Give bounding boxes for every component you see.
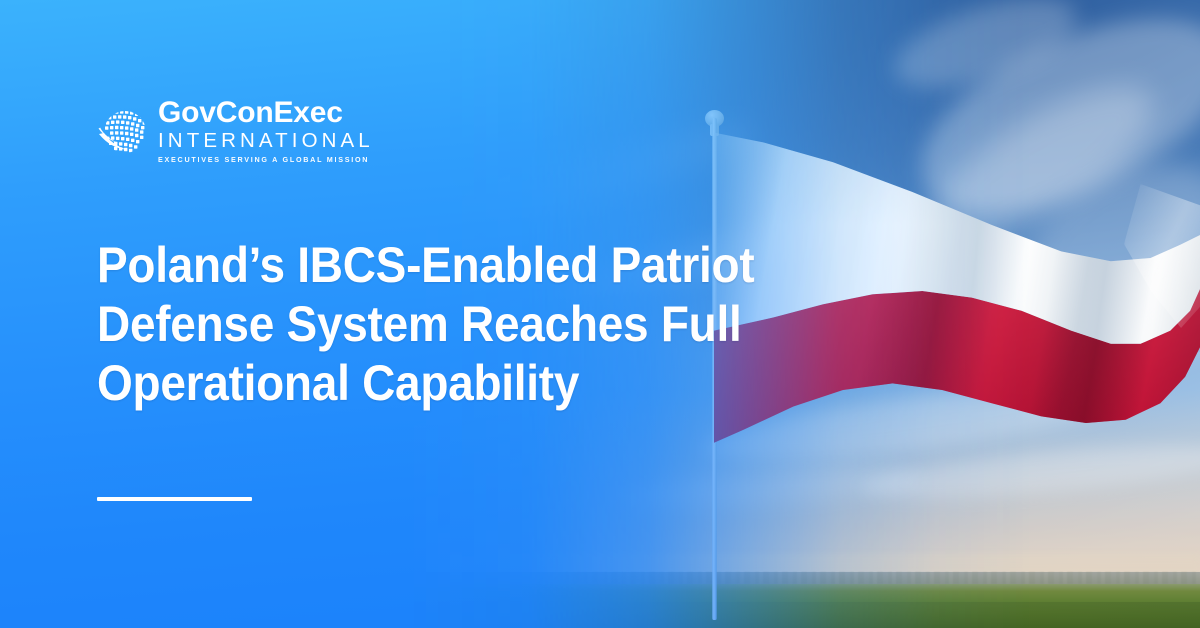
title-divider <box>97 497 252 501</box>
brand-name-secondary: INTERNATIONAL <box>158 131 374 152</box>
headline-line-1: Poland’s IBCS-Enabled Patriot <box>97 236 649 295</box>
brand-logo[interactable]: GovConExec INTERNATIONAL EXECUTIVES SERV… <box>97 98 374 163</box>
headline-line-2: Defense System Reaches Full <box>97 295 649 354</box>
social-share-card: GovConExec INTERNATIONAL EXECUTIVES SERV… <box>0 0 1200 628</box>
brand-tagline: EXECUTIVES SERVING A GLOBAL MISSION <box>158 156 374 163</box>
brand-wordmark: GovConExec INTERNATIONAL EXECUTIVES SERV… <box>158 98 374 163</box>
content-layer: GovConExec INTERNATIONAL EXECUTIVES SERV… <box>0 0 700 628</box>
headline-line-3: Operational Capability <box>97 354 649 413</box>
globe-icon <box>97 103 147 157</box>
brand-name-primary: GovConExec <box>158 98 374 128</box>
page-title: Poland’s IBCS-Enabled Patriot Defense Sy… <box>97 236 649 413</box>
